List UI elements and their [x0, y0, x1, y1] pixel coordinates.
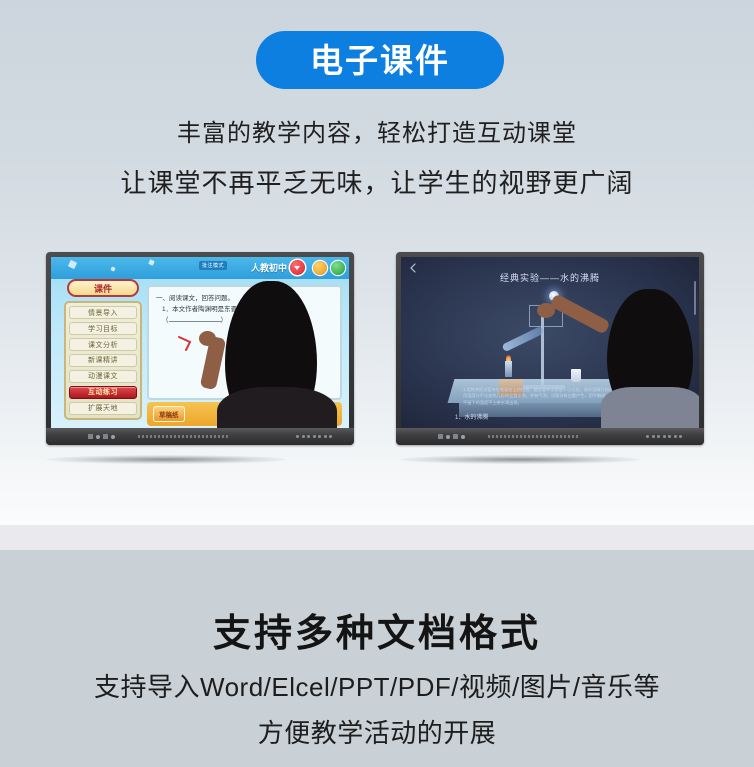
question-line-2: 1．本文作者陶渊明是东晋时期	[156, 304, 333, 315]
stand-rod	[541, 309, 544, 387]
device-right-interactive-panel: 经典实验——水的沸腾 1.用铁夹把试管夹在铁架台上的位置，使试管中水面低于小火焰…	[396, 252, 704, 445]
source-icon[interactable]	[103, 434, 108, 439]
left-screen: 批注模式 人教初中 课件 情景导入 学习目标 课文分析 新课精讲 动漫课文 互动…	[51, 257, 349, 428]
next-question-button[interactable]: 下一题	[305, 406, 337, 422]
volume-icon[interactable]	[461, 435, 465, 439]
chevron-down-icon[interactable]	[290, 260, 305, 275]
textbook-brand-label: 人教初中	[251, 261, 287, 274]
sidebar-item-kuozhantiandi[interactable]: 扩展天地	[69, 402, 137, 415]
section-divider	[0, 525, 754, 550]
formats-section: 支持多种文档格式 支持导入Word/Elcel/PPT/PDF/视频/图片/音乐…	[0, 550, 754, 767]
left-device-chin	[46, 428, 354, 445]
beaker	[571, 369, 581, 382]
courseware-title-plaque: 课件	[67, 279, 139, 297]
source-icon[interactable]	[453, 434, 458, 439]
courseware-action-bar: 草稿纸 答案 下一题	[147, 402, 342, 426]
right-device-chin	[396, 428, 704, 445]
experiment-footer-label: 1．水的沸腾	[455, 412, 488, 421]
left-device-shadow	[46, 455, 286, 464]
sidebar-item-xinkejingjiang[interactable]: 新课精讲	[69, 354, 137, 367]
power-icon[interactable]	[438, 434, 443, 439]
experiment-app: 经典实验——水的沸腾 1.用铁夹把试管夹在铁架台上的位置，使试管中水面低于小火焰…	[401, 257, 699, 428]
sidebar-item-qingjingdaoru[interactable]: 情景导入	[69, 306, 137, 319]
menu-icon[interactable]	[96, 435, 100, 439]
device-control-buttons[interactable]	[438, 434, 465, 439]
formats-subtitle-1: 支持导入Word/Elcel/PPT/PDF/视频/图片/音乐等	[0, 667, 754, 704]
draft-paper-button[interactable]: 草稿纸	[153, 406, 185, 422]
hero-tagline-2: 让课堂不再平乏无味，让学生的视野更广阔	[0, 163, 754, 200]
section-badge-label: 电子课件	[310, 44, 450, 77]
courseware-app: 批注模式 人教初中 课件 情景导入 学习目标 课文分析 新课精讲 动漫课文 互动…	[51, 257, 349, 428]
volume-icon[interactable]	[331, 261, 345, 275]
clamp-frame	[529, 305, 563, 327]
speaker-grille	[646, 435, 682, 438]
light-source-icon	[549, 291, 559, 301]
handwritten-check-mark	[177, 333, 203, 351]
power-icon[interactable]	[88, 434, 93, 439]
hero-section: 电子课件 丰富的教学内容，轻松打造互动课堂 让课堂不再平乏无味，让学生的视野更广…	[0, 0, 754, 525]
alcohol-burner	[505, 361, 512, 377]
sidebar-item-hudonglianxi[interactable]: 互动练习	[69, 386, 137, 399]
experiment-title: 经典实验——水的沸腾	[401, 271, 699, 284]
courseware-worksheet: 一、阅读课文，回答问题。 1．本文作者陶渊明是东晋时期 （）	[147, 285, 342, 400]
brand-strip	[488, 435, 578, 438]
answer-blank[interactable]	[169, 321, 221, 322]
question-line-3: （）	[156, 315, 333, 326]
courseware-sidebar: 情景导入 学习目标 课文分析 新课精讲 动漫课文 互动练习 扩展天地	[64, 301, 142, 420]
menu-icon[interactable]	[446, 435, 450, 439]
speaker-grille	[296, 435, 332, 438]
device-left-interactive-panel: 批注模式 人教初中 课件 情景导入 学习目标 课文分析 新课精讲 动漫课文 互动…	[46, 252, 354, 445]
volume-icon[interactable]	[111, 435, 115, 439]
experiment-caption: 1.用铁夹把试管夹在铁架台上的位置，使试管中水面低于小火焰，调节酒精灯的位置，点…	[463, 387, 649, 407]
promo-page: 电子课件 丰富的教学内容，轻松打造互动课堂 让课堂不再平乏无味，让学生的视野更广…	[0, 0, 754, 767]
annotate-mode-tag[interactable]: 批注模式	[199, 261, 227, 270]
sidebar-item-xuexumubiao[interactable]: 学习目标	[69, 322, 137, 335]
sidebar-item-kewenfenxi[interactable]: 课文分析	[69, 338, 137, 351]
sidebar-item-dongmankewen[interactable]: 动漫课文	[69, 370, 137, 383]
question-line-1: 一、阅读课文，回答问题。	[156, 293, 333, 304]
section-badge: 电子课件	[256, 31, 504, 89]
brand-strip	[138, 435, 228, 438]
device-control-buttons[interactable]	[88, 434, 115, 439]
test-tube	[501, 326, 544, 352]
scrollbar[interactable]	[694, 281, 696, 315]
right-screen: 经典实验——水的沸腾 1.用铁夹把试管夹在铁架台上的位置，使试管中水面低于小火焰…	[401, 257, 699, 428]
hero-tagline-1: 丰富的教学内容，轻松打造互动课堂	[0, 113, 754, 148]
bell-icon[interactable]	[313, 261, 327, 275]
answer-button[interactable]: 答案	[232, 406, 257, 422]
formats-subtitle-2: 方便教学活动的开展	[0, 713, 754, 750]
formats-title: 支持多种文档格式	[0, 602, 754, 657]
right-device-shadow	[400, 455, 640, 464]
